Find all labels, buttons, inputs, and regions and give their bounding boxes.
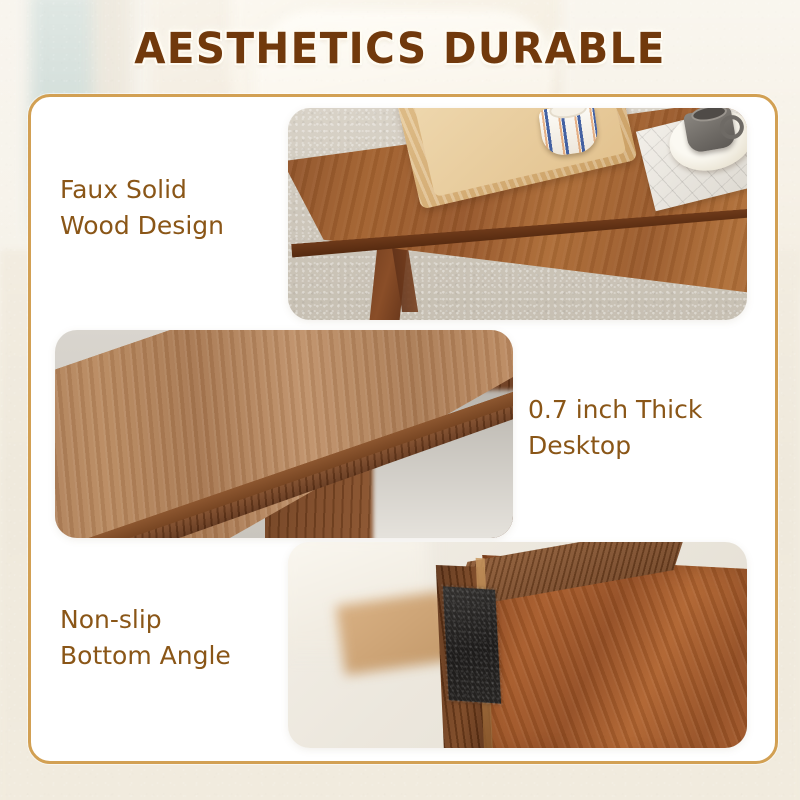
non-slip-felt-pad — [443, 586, 501, 703]
feature-photo-faux-solid-wood-design — [288, 108, 747, 320]
feature-caption-non-slip-bottom-angle: Non-slip Bottom Angle — [60, 602, 231, 673]
feature-caption-faux-solid-wood-design: Faux Solid Wood Design — [60, 172, 224, 243]
feature-photo-non-slip-bottom-angle — [288, 542, 747, 748]
feature-caption-thick-desktop: 0.7 inch Thick Desktop — [528, 392, 702, 463]
page-title: AESTHETICS DURABLE — [24, 24, 776, 74]
feature-photo-thick-desktop — [55, 330, 513, 538]
infographic-stage: AESTHETICS DURABLE Faux Solid Wood Desig… — [0, 0, 800, 800]
